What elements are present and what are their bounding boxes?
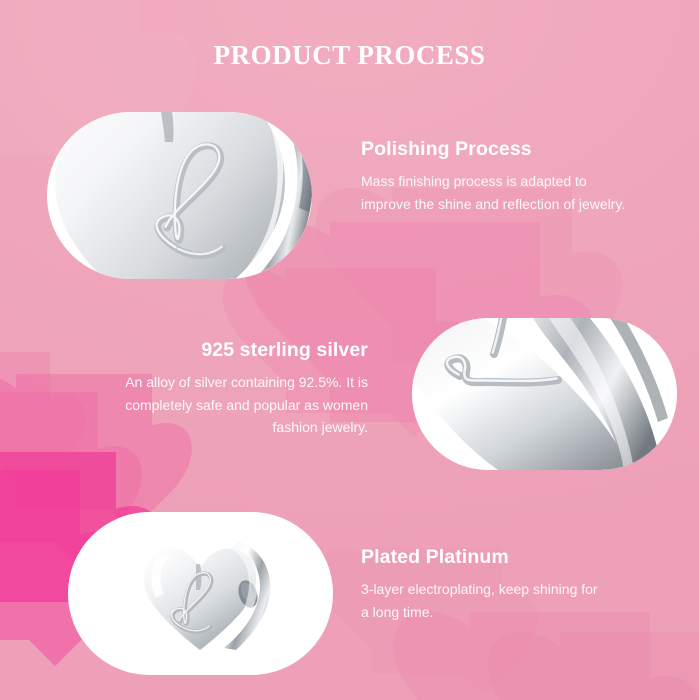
product-image-sterling-silver [412,318,677,470]
section-heading: 925 sterling silver [42,339,368,362]
section-body: Mass finishing process is adapted to imp… [361,170,683,215]
product-image-polishing [47,112,312,279]
section-body-line: An alloy of silver containing 92.5%. It … [42,371,368,394]
section-body: An alloy of silver containing 92.5%. It … [42,371,368,439]
section-body: 3-layer electroplating, keep shining for… [361,578,683,623]
product-process-infographic: PRODUCT PROCESS [0,0,699,700]
section-polishing: Polishing Process Mass finishing process… [361,138,683,215]
section-body-line: fashion jewelry. [42,416,368,439]
section-body-line: completely safe and popular as women [42,394,368,417]
section-sterling-silver: 925 sterling silver An alloy of silver c… [42,339,368,439]
decorative-heart-icon [560,632,699,700]
section-plated-platinum: Plated Platinum 3-layer electroplating, … [361,546,683,623]
section-body-line: improve the shine and reflection of jewe… [361,193,683,216]
decorative-heart-icon [0,470,80,640]
section-heading: Polishing Process [361,138,683,161]
section-body-line: Mass finishing process is adapted to [361,170,683,193]
decorative-heart-icon [470,612,650,700]
page-title: PRODUCT PROCESS [0,40,699,71]
section-body-line: a long time. [361,601,683,624]
section-body-line: 3-layer electroplating, keep shining for [361,578,683,601]
product-image-plated-platinum [68,512,333,675]
section-heading: Plated Platinum [361,546,683,569]
